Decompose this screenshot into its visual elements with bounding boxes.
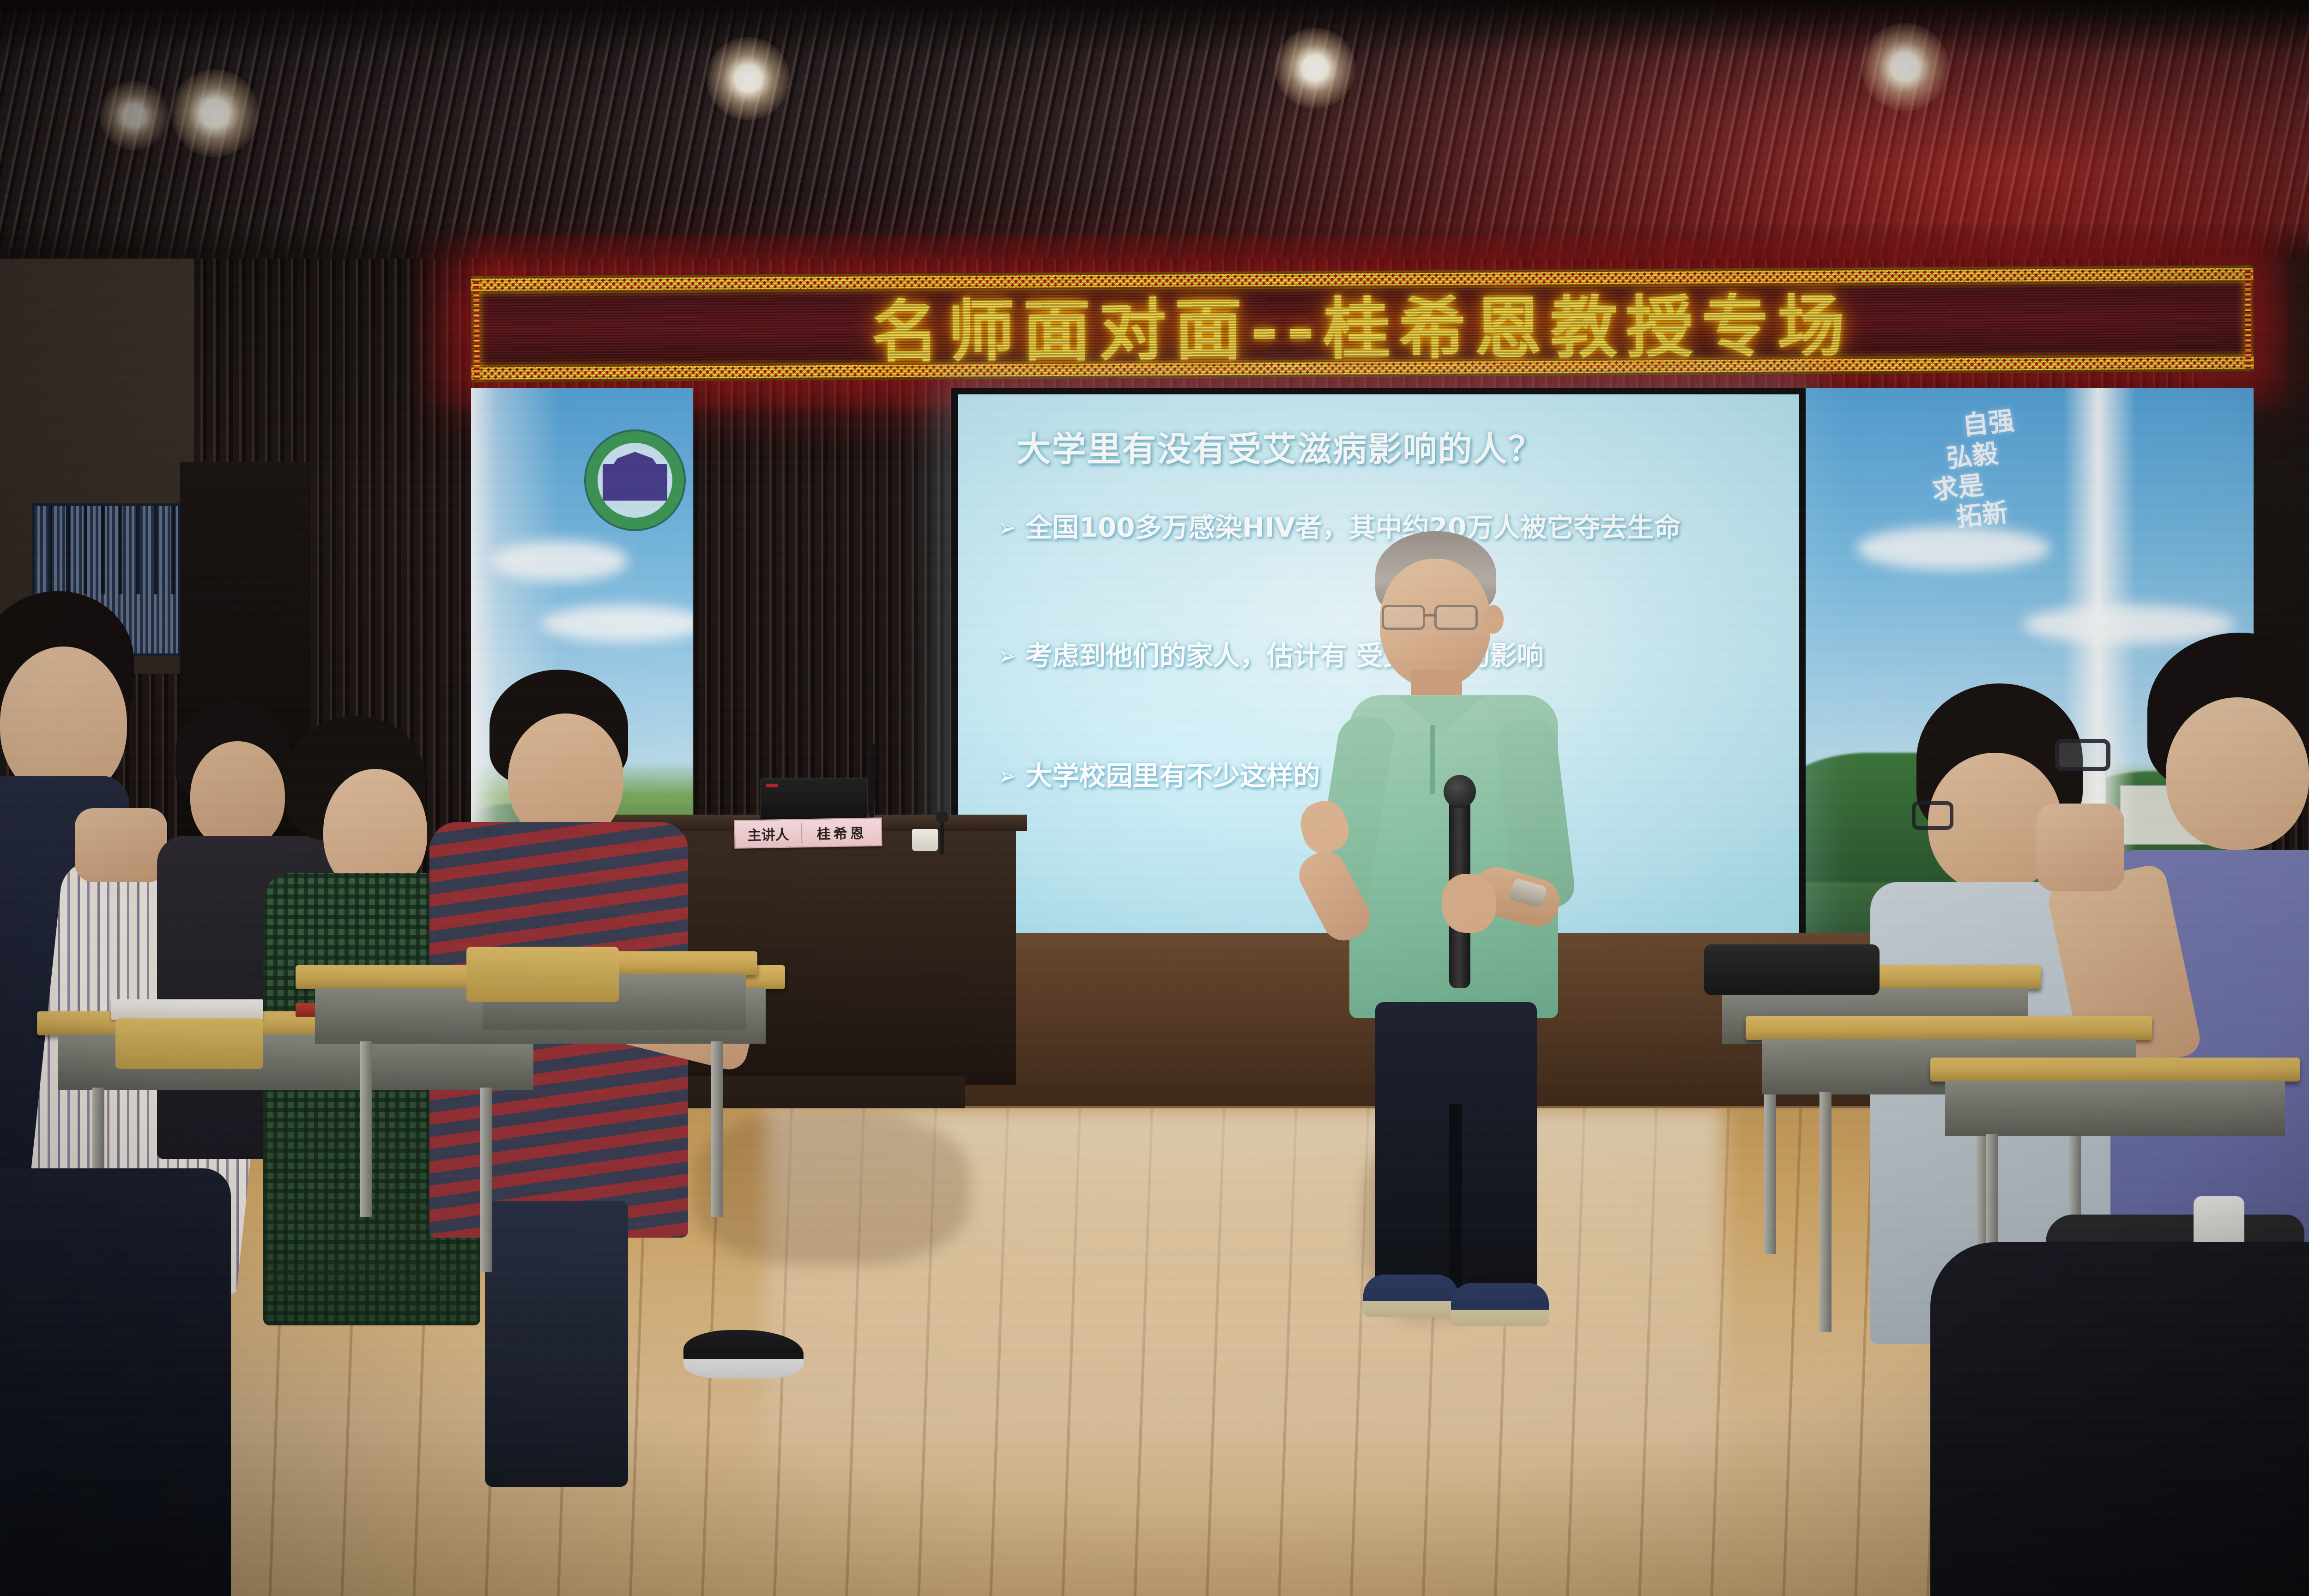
university-motto-calligraphy: 自强 弘毅 求是 拓新 xyxy=(1934,407,2025,533)
podium-microphone-stand xyxy=(940,817,944,854)
laptop-bag[interactable] xyxy=(1704,944,1880,995)
attendee-foreground-left xyxy=(0,1168,231,1596)
guest-lecturer xyxy=(1321,531,1607,1344)
desk-apron xyxy=(1945,1081,2285,1136)
recessed-ceiling-light xyxy=(1861,23,1949,111)
desk-surface xyxy=(1930,1058,2300,1082)
microphone-head xyxy=(1444,775,1476,808)
desk-leg xyxy=(360,1041,372,1217)
lecture-hall-photo: 名师面对面--桂希恩教授专场 自强 弘毅 求是 拓新 大学里有没有受艾滋病影响 xyxy=(0,0,2309,1596)
cloud xyxy=(540,605,693,642)
podium-microphone-head xyxy=(936,811,949,823)
glasses-lens-left xyxy=(1382,605,1425,630)
bullet-arrow-icon: ➢ xyxy=(998,757,1016,794)
ceiling-shadow-band xyxy=(0,0,2309,55)
speaker-right-hand xyxy=(1442,874,1496,933)
laptop-logo xyxy=(766,784,778,787)
attendee-dark-top xyxy=(0,1168,231,1596)
drinking-cup[interactable] xyxy=(912,829,938,851)
wuhan-university-emblem xyxy=(584,429,686,531)
laptop-computer[interactable] xyxy=(760,778,868,824)
speaker-shoe-left xyxy=(1363,1275,1458,1317)
attendee-foreground-right xyxy=(1930,1242,2309,1596)
motto-line-1: 自强 xyxy=(1961,407,2016,440)
emblem-building xyxy=(603,464,668,501)
motto-line-4: 拓新 xyxy=(1955,497,2025,532)
led-banner: 名师面对面--桂希恩教授专场 xyxy=(471,265,2254,382)
trouser-leg-gap xyxy=(1449,1104,1462,1288)
desk-surface xyxy=(1746,1016,2152,1040)
bullet-arrow-icon: ➢ xyxy=(998,509,1016,546)
glasses-bridge xyxy=(1425,614,1435,617)
led-banner-text: 名师面对面--桂希恩教授专场 xyxy=(471,270,2254,378)
attendee-head xyxy=(190,741,285,850)
chair-backrest xyxy=(115,1018,263,1069)
slide-title: 大学里有没有受艾滋病影响的人？ xyxy=(1017,422,1766,471)
desk-papers[interactable] xyxy=(111,999,263,1020)
desk-leg xyxy=(1819,1092,1831,1332)
emblem-roof xyxy=(610,452,659,468)
motto-line-2: 弘毅 xyxy=(1945,438,2019,472)
student-hand xyxy=(2037,804,2124,891)
recessed-ceiling-light xyxy=(171,69,259,157)
attendee-dark-top xyxy=(1930,1242,2309,1596)
glasses-lens-right xyxy=(1434,605,1478,630)
shirt-placket xyxy=(1430,725,1435,794)
attendee-shoe xyxy=(683,1330,804,1378)
eyeglasses-icon xyxy=(2055,739,2110,771)
bullet-arrow-icon: ➢ xyxy=(998,637,1016,674)
nameplate-name: 桂希恩 xyxy=(802,822,881,843)
speaker-shoe-right xyxy=(1451,1283,1549,1326)
recessed-ceiling-light xyxy=(1275,28,1355,109)
eyeglasses-icon xyxy=(1380,605,1495,631)
student-head xyxy=(2166,697,2309,850)
eyeglasses-icon xyxy=(1912,801,1953,830)
cloud xyxy=(1856,526,2050,570)
grille-arch-pattern xyxy=(35,506,178,594)
chair-backrest xyxy=(466,947,619,1002)
attendee-hand xyxy=(75,808,167,882)
slide-bullet-text: 大学校园里有不少这样的 xyxy=(1026,760,1320,792)
recessed-ceiling-light xyxy=(707,37,790,120)
recessed-ceiling-light xyxy=(99,81,169,150)
